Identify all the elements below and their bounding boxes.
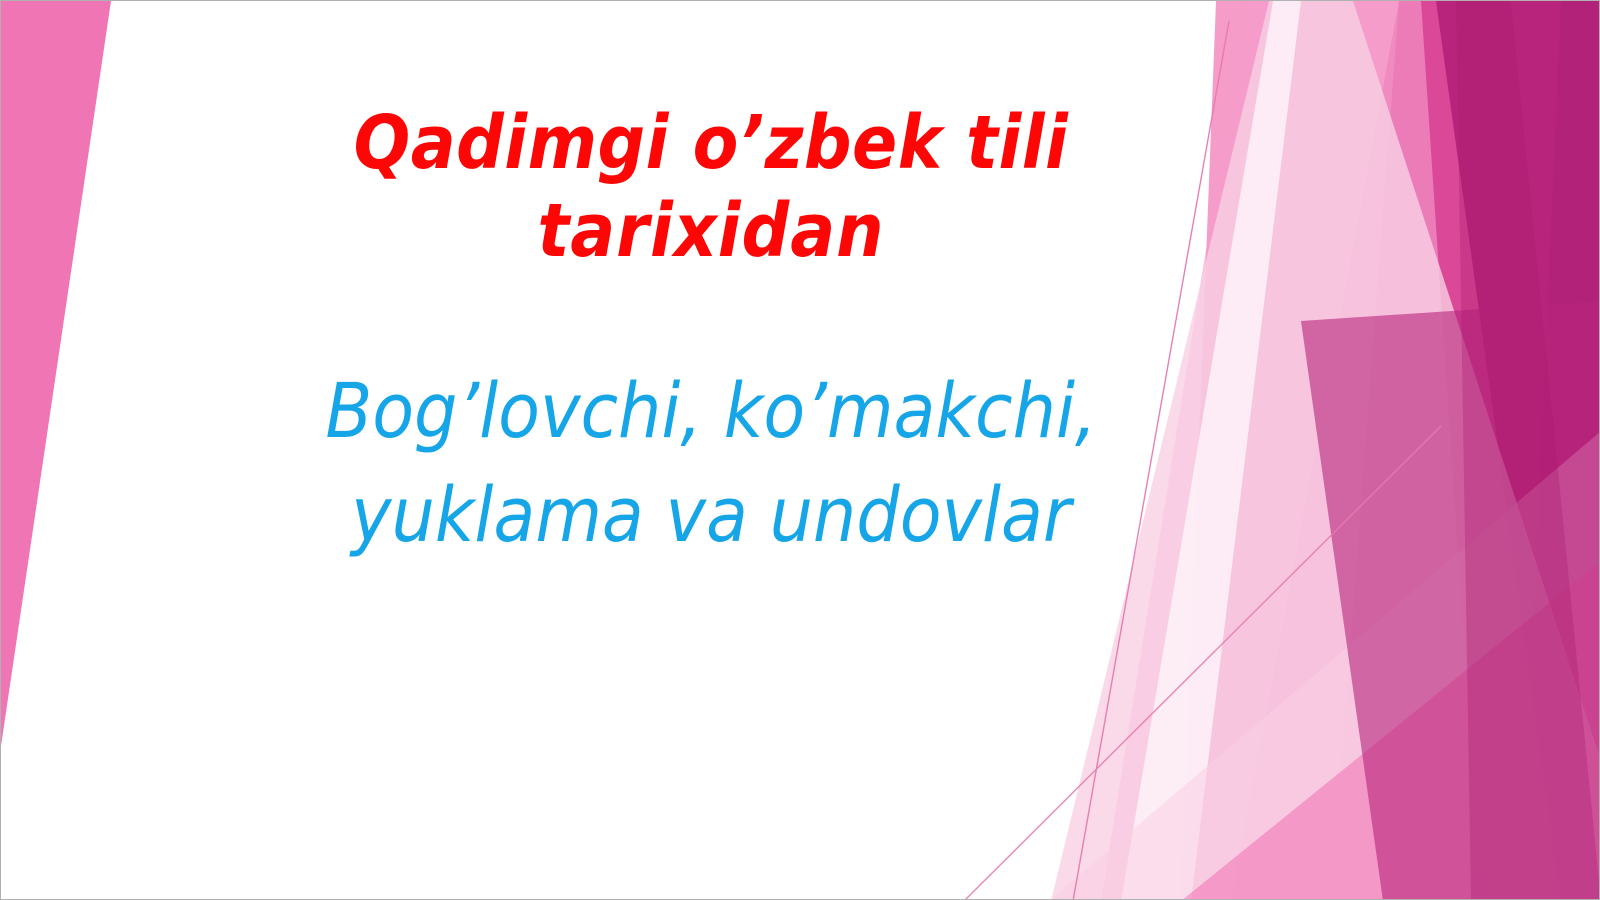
- slide-subtitle-line-2: yuklama va undovlar: [151, 463, 1271, 567]
- slide-subtitle-line-1: Bog’lovchi, ko’makchi,: [151, 359, 1271, 463]
- slide-title-line-2: tarixidan: [151, 187, 1271, 275]
- slide-title: Qadimgi o’zbek tili tarixidan: [151, 99, 1271, 275]
- slide-title-line-1: Qadimgi o’zbek tili: [151, 99, 1271, 187]
- slide-text-layer: Qadimgi o’zbek tili tarixidan Bog’lovchi…: [1, 1, 1600, 900]
- slide-subtitle: Bog’lovchi, ko’makchi, yuklama va undovl…: [151, 359, 1271, 567]
- presentation-slide: Qadimgi o’zbek tili tarixidan Bog’lovchi…: [0, 0, 1600, 900]
